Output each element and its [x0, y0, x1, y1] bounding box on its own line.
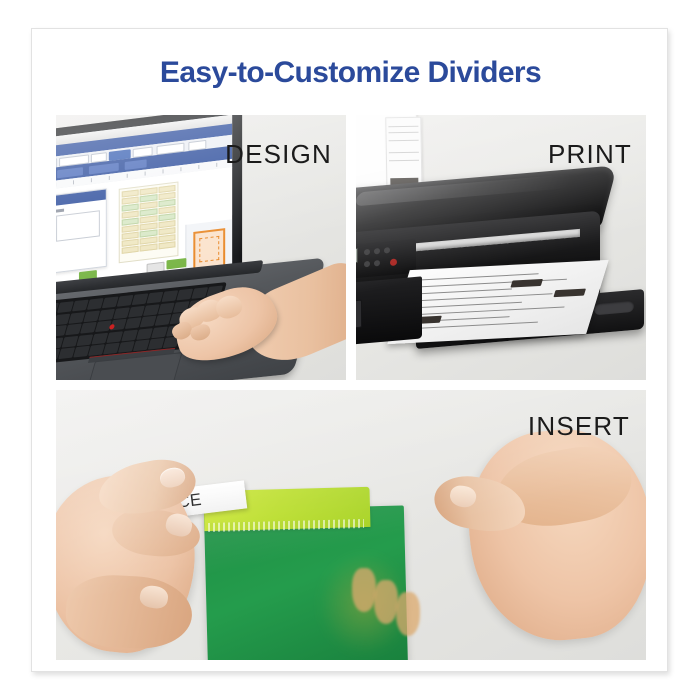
printer-power-button [390, 258, 397, 266]
dialog-preview-box [56, 210, 100, 242]
fingers-behind-divider [352, 558, 422, 658]
design-settings-dialog [56, 188, 107, 278]
panel-design: DESIGN [56, 115, 346, 380]
tray-handle [594, 300, 634, 315]
cartridge-door [356, 300, 362, 330]
panel-label-print: PRINT [548, 139, 632, 170]
hand-typing [169, 265, 346, 380]
printer-front-cover [356, 276, 422, 347]
template-grid-preview [119, 182, 179, 264]
panel-insert: FINANCE INSERT [56, 390, 646, 660]
page-title: Easy-to-Customize Dividers [32, 56, 669, 90]
panel-label-insert: INSERT [528, 411, 630, 442]
panel-label-design: DESIGN [225, 139, 332, 170]
product-feature-image: Easy-to-Customize Dividers [0, 0, 700, 700]
panel-print: PRINT [356, 115, 646, 380]
content-card: Easy-to-Customize Dividers [31, 28, 668, 672]
printer-lcd-display [356, 248, 358, 266]
